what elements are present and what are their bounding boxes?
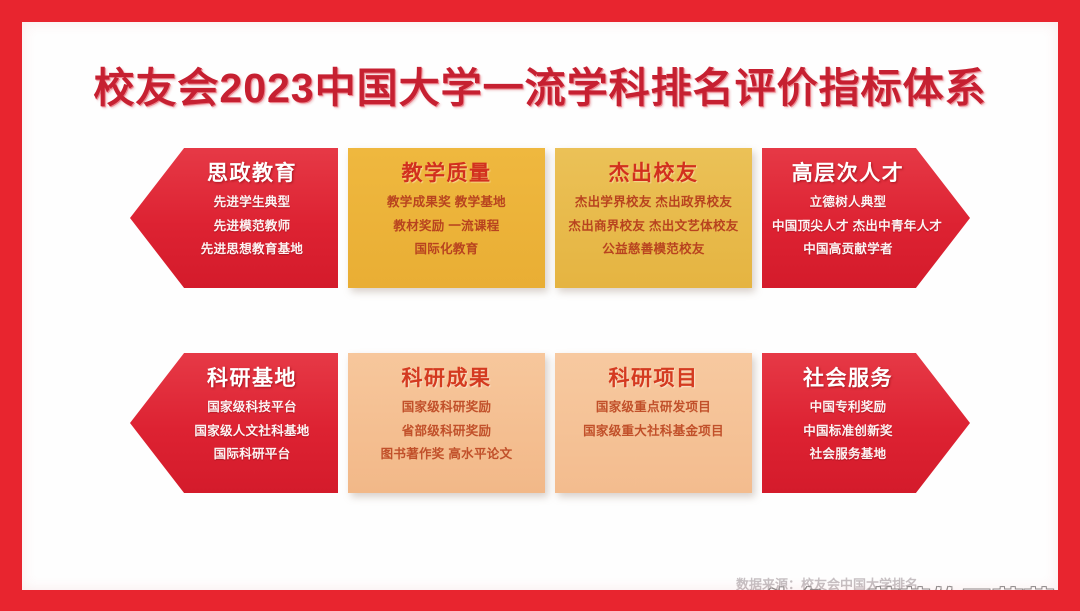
indicator-card-item: 教学成果奖 教学基地 <box>358 196 535 209</box>
indicator-card-item: 中国顶尖人才 杰出中青年人才 <box>772 220 924 233</box>
watermark-at-symbol: @ <box>834 589 862 590</box>
indicator-card: 社会服务中国专利奖励中国标准创新奖社会服务基地 <box>762 353 970 493</box>
indicator-card-item: 教材奖励 一流课程 <box>358 220 535 233</box>
indicator-card-title: 科研成果 <box>358 367 535 390</box>
indicator-card-title: 科研基地 <box>176 367 328 390</box>
indicator-card: 科研基地国家级科技平台国家级人文社科基地国际科研平台 <box>130 353 338 493</box>
indicator-card: 科研项目国家级重点研发项目国家级重大社科基金项目 <box>555 353 752 493</box>
indicator-card: 科研成果国家级科研奖励省部级科研奖励图书著作奖 高水平论文 <box>348 353 545 493</box>
indicator-card-title: 科研项目 <box>565 367 742 390</box>
indicator-card-item: 先进学生典型 <box>176 196 328 209</box>
indicator-card: 高层次人才立德树人典型中国顶尖人才 杰出中青年人才中国高贡献学者 <box>762 148 970 288</box>
indicator-card: 思政教育先进学生典型先进模范教师先进思想教育基地 <box>130 148 338 288</box>
indicator-card-item: 先进模范教师 <box>176 220 328 233</box>
indicator-card-item: 中国高贡献学者 <box>772 243 924 256</box>
indicator-card-item: 中国标准创新奖 <box>772 425 924 438</box>
indicator-card-title: 教学质量 <box>358 162 535 185</box>
watermark: 头条 @ 蓝蓝的天蓝蓝的雨 <box>764 578 1058 590</box>
indicator-card-title: 高层次人才 <box>772 162 924 185</box>
indicator-card: 杰出校友杰出学界校友 杰出政界校友杰出商界校友 杰出文艺体校友公益慈善模范校友 <box>555 148 752 288</box>
indicator-card-item: 公益慈善模范校友 <box>565 243 742 256</box>
indicator-row-2: 科研基地国家级科技平台国家级人文社科基地国际科研平台科研成果国家级科研奖励省部级… <box>130 353 970 493</box>
indicator-card-title: 杰出校友 <box>565 162 742 185</box>
indicator-row-1: 思政教育先进学生典型先进模范教师先进思想教育基地教学质量教学成果奖 教学基地教材… <box>130 148 970 288</box>
indicator-card-item: 社会服务基地 <box>772 448 924 461</box>
watermark-username: 蓝蓝的天蓝蓝的雨 <box>868 578 1058 590</box>
indicator-card-item: 杰出商界校友 杰出文艺体校友 <box>565 220 742 233</box>
indicator-card-item: 省部级科研奖励 <box>358 425 535 438</box>
page-title: 校友会2023中国大学一流学科排名评价指标体系 <box>93 54 986 114</box>
indicator-card: 教学质量教学成果奖 教学基地教材奖励 一流课程国际化教育 <box>348 148 545 288</box>
indicator-card-item: 国家级科技平台 <box>176 401 328 414</box>
indicator-card-item: 国家级重点研发项目 <box>565 401 742 414</box>
watermark-brand: 头条 <box>764 578 828 590</box>
indicator-card-item: 国际科研平台 <box>176 448 328 461</box>
indicator-card-item: 先进思想教育基地 <box>176 243 328 256</box>
indicator-card-item: 杰出学界校友 杰出政界校友 <box>565 196 742 209</box>
indicator-card-item: 国家级人文社科基地 <box>176 425 328 438</box>
title-container: 校友会2023中国大学一流学科排名评价指标体系 <box>22 54 1058 114</box>
indicator-card-title: 社会服务 <box>772 367 924 390</box>
indicator-card-item: 国际化教育 <box>358 243 535 256</box>
indicator-card-item: 图书著作奖 高水平论文 <box>358 448 535 461</box>
indicator-card-title: 思政教育 <box>176 162 328 185</box>
indicator-card-item: 国家级重大社科基金项目 <box>565 425 742 438</box>
indicator-card-item: 中国专利奖励 <box>772 401 924 414</box>
poster-canvas: 校友会2023中国大学一流学科排名评价指标体系 思政教育先进学生典型先进模范教师… <box>22 22 1058 590</box>
indicator-card-item: 国家级科研奖励 <box>358 401 535 414</box>
indicator-card-item: 立德树人典型 <box>772 196 924 209</box>
